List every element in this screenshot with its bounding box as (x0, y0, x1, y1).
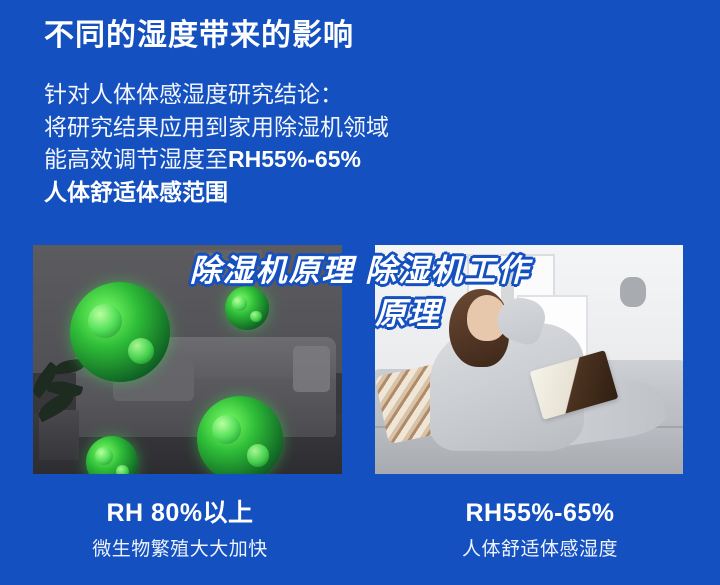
caption-left: RH 80%以上 微生物繁殖大大加快 (0, 498, 360, 561)
humidity-infographic-poster: 不同的湿度带来的影响 针对人体体感湿度研究结论： 将研究结果应用到家用除湿机领域… (0, 0, 720, 585)
photo-row (33, 245, 683, 474)
dark-sofa-pillow (293, 346, 330, 392)
intro-line-2: 将研究结果应用到家用除湿机领域 (44, 111, 389, 144)
page-title: 不同的湿度带来的影响 (44, 18, 354, 54)
wall-speaker (620, 277, 646, 307)
caption-left-value: RH 80%以上 (0, 498, 360, 529)
intro-line-3-plain: 能高效调节湿度至 (44, 146, 228, 172)
caption-right-value: RH55%-65% (360, 498, 720, 529)
dark-room-scene (33, 245, 342, 474)
caption-row: RH 80%以上 微生物繁殖大大加快 RH55%-65% 人体舒适体感湿度 (0, 498, 720, 561)
intro-line-1: 针对人体体感湿度研究结论： (44, 78, 389, 111)
caption-left-description: 微生物繁殖大大加快 (0, 534, 360, 561)
germ-icon (70, 282, 170, 382)
intro-text-block: 针对人体体感湿度研究结论： 将研究结果应用到家用除湿机领域 能高效调节湿度至RH… (44, 78, 389, 209)
intro-line-3: 能高效调节湿度至RH55%-65% (44, 143, 389, 176)
photo-left-high-humidity (33, 245, 342, 474)
humidity-range-value: RH55%-65% (228, 146, 361, 172)
caption-right-description: 人体舒适体感湿度 (360, 534, 720, 561)
dark-shelf (194, 250, 262, 277)
caption-right: RH55%-65% 人体舒适体感湿度 (360, 498, 720, 561)
germ-icon (197, 396, 283, 474)
germ-icon (225, 286, 269, 330)
intro-line-4: 人体舒适体感范围 (44, 176, 389, 209)
bright-room-scene (375, 245, 683, 474)
photo-right-comfort-humidity (375, 245, 683, 474)
